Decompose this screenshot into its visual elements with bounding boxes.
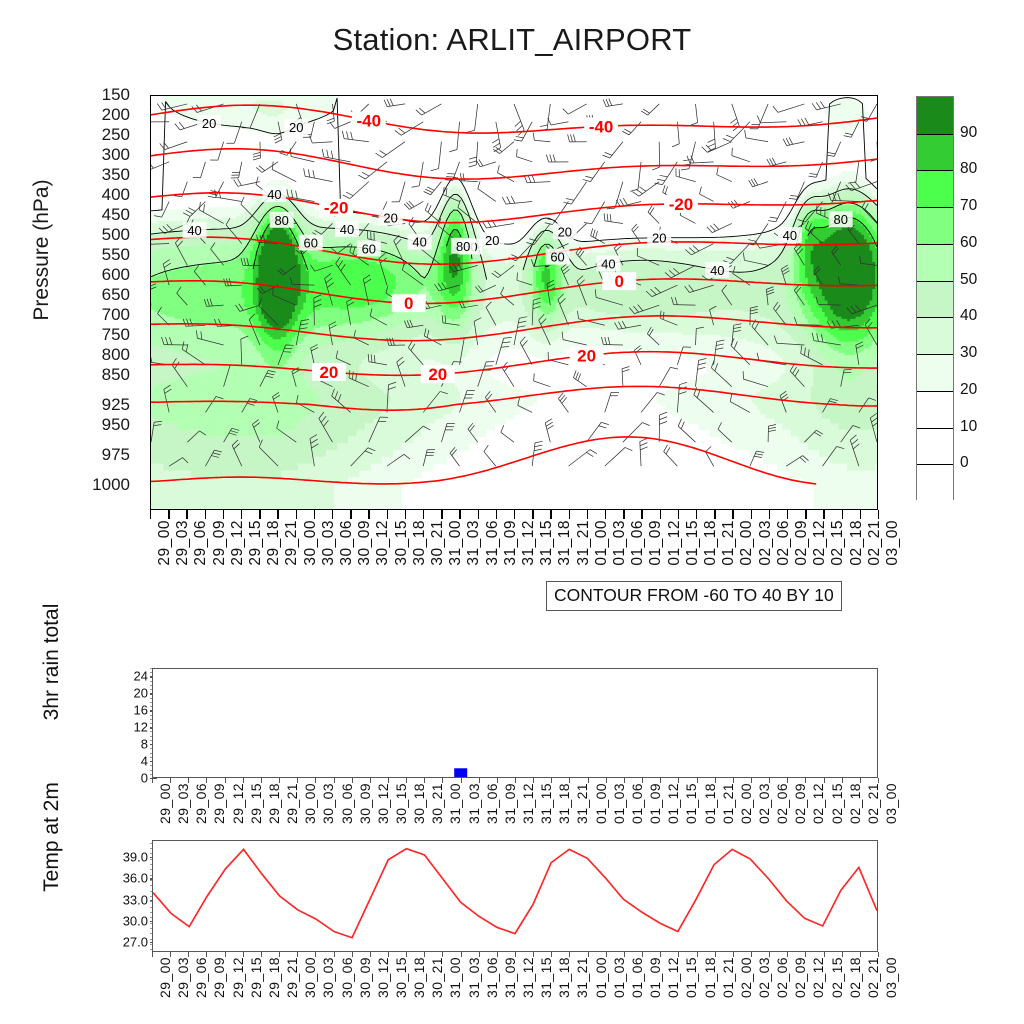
sounding-svg: -40-40-20-200020202020202020202040404040… xyxy=(151,96,877,509)
x-tick xyxy=(805,510,806,519)
time-label: 30_15 xyxy=(393,783,409,824)
x-tick xyxy=(623,510,624,519)
temp-axis-title: Temp at 2m xyxy=(40,737,64,937)
time-label: 02_00 xyxy=(738,783,754,824)
temp-axis-labels: 27.030.033.036.039.0 xyxy=(96,840,148,952)
pressure-label: 850 xyxy=(84,365,130,385)
time-label: 29_21 xyxy=(283,520,301,566)
time-label: 01_15 xyxy=(684,520,702,566)
time-label: 30_06 xyxy=(339,783,355,824)
x-tick xyxy=(168,510,169,519)
time-label: 01_03 xyxy=(611,783,627,824)
colorbar-label: 60 xyxy=(960,234,977,252)
time-label: 01_21 xyxy=(720,957,736,998)
time-label: 30_09 xyxy=(356,520,374,566)
time-label: 02_18 xyxy=(848,520,866,566)
rain-axis-title: 3hr rain total xyxy=(40,562,64,762)
time-label: 30_09 xyxy=(357,783,373,824)
time-label: 29_00 xyxy=(157,957,173,998)
x-tick xyxy=(150,510,151,519)
x-tick xyxy=(368,510,369,519)
time-label: 30_21 xyxy=(429,783,445,824)
time-label: 29_03 xyxy=(175,783,191,824)
x-tick xyxy=(314,510,315,519)
time-label: 31_03 xyxy=(465,520,483,566)
x-tick xyxy=(441,510,442,519)
time-label: 30_03 xyxy=(320,520,338,566)
time-label: 29_09 xyxy=(211,783,227,824)
time-label: 02_00 xyxy=(738,520,756,566)
time-label: 29_18 xyxy=(265,520,283,566)
time-label: 31_06 xyxy=(484,957,500,998)
pressure-label: 300 xyxy=(84,145,130,165)
time-label: 31_18 xyxy=(556,957,572,998)
x-tick xyxy=(532,510,533,519)
time-label: 31_03 xyxy=(466,783,482,824)
pressure-label: 250 xyxy=(84,125,130,145)
x-tick xyxy=(587,510,588,519)
time-label: 29_12 xyxy=(229,520,247,566)
time-label: 31_00 xyxy=(447,520,465,566)
temp-x-labels: 29_0029_0329_0629_0929_1229_1529_1829_21… xyxy=(152,957,878,1015)
x-tick xyxy=(550,510,551,519)
time-label: 31_12 xyxy=(520,783,536,824)
x-tick xyxy=(387,510,388,519)
time-label: 02_09 xyxy=(792,957,808,998)
time-label: 01_18 xyxy=(702,783,718,824)
time-label: 31_06 xyxy=(484,520,502,566)
temp-tick-label: 27.0 xyxy=(96,935,148,950)
rain-tick-label: 12 xyxy=(104,720,148,735)
x-tick xyxy=(641,510,642,519)
pressure-label: 950 xyxy=(84,415,130,435)
time-label: 29_06 xyxy=(193,957,209,998)
temp-tick-label: 33.0 xyxy=(96,892,148,907)
x-tick xyxy=(459,510,460,519)
time-label: 31_18 xyxy=(556,520,574,566)
time-label: 01_09 xyxy=(647,783,663,824)
time-label: 29_00 xyxy=(156,520,174,566)
time-label: 30_03 xyxy=(320,783,336,824)
time-label: 29_21 xyxy=(284,783,300,824)
colorbar-label: 0 xyxy=(960,454,969,472)
pressure-label: 400 xyxy=(84,185,130,205)
time-label: 02_12 xyxy=(810,957,826,998)
time-label: 01_15 xyxy=(683,783,699,824)
colorbar-label: 20 xyxy=(960,381,977,399)
time-label: 02_15 xyxy=(829,957,845,998)
main-x-labels: 29_0029_0329_0629_0929_1229_1529_1829_21… xyxy=(150,520,878,582)
colorbar-label: 80 xyxy=(960,160,977,178)
pressure-label: 975 xyxy=(84,445,130,465)
time-label: 02_21 xyxy=(865,783,881,824)
time-label: 31_03 xyxy=(466,957,482,998)
x-tick xyxy=(714,510,715,519)
x-tick xyxy=(186,510,187,519)
time-label: 02_21 xyxy=(866,520,884,566)
temp-tick-label: 30.0 xyxy=(96,913,148,928)
time-label: 30_00 xyxy=(302,957,318,998)
time-label: 02_03 xyxy=(757,520,775,566)
time-label: 01_06 xyxy=(629,957,645,998)
time-label: 01_00 xyxy=(593,783,609,824)
time-label: 29_15 xyxy=(248,957,264,998)
time-label: 30_09 xyxy=(357,957,373,998)
figure-root: Station: ARLIT_AIRPORT Pressure (hPa) 15… xyxy=(0,0,1024,1024)
time-label: 29_06 xyxy=(193,783,209,824)
pressure-label: 350 xyxy=(84,165,130,185)
rain-tick-label: 0 xyxy=(104,771,148,786)
time-label: 29_09 xyxy=(211,520,229,566)
time-label: 01_03 xyxy=(611,520,629,566)
colorbar-label: 30 xyxy=(960,344,977,362)
time-label: 01_09 xyxy=(647,957,663,998)
x-tick xyxy=(241,510,242,519)
x-tick xyxy=(223,510,224,519)
time-label: 02_15 xyxy=(829,783,845,824)
time-label: 02_06 xyxy=(774,783,790,824)
time-label: 29_12 xyxy=(230,783,246,824)
x-tick xyxy=(878,510,879,519)
time-label: 30_15 xyxy=(393,957,409,998)
rain-tick-label: 16 xyxy=(104,703,148,718)
x-tick xyxy=(205,510,206,519)
x-tick xyxy=(860,510,861,519)
time-label: 30_12 xyxy=(375,957,391,998)
time-label: 29_21 xyxy=(284,957,300,998)
x-tick xyxy=(751,510,752,519)
pressure-label: 550 xyxy=(84,245,130,265)
temp-plot xyxy=(152,840,878,952)
sounding-plot: -40-40-20-200020202020202020202040404040… xyxy=(150,95,878,510)
rain-tick-label: 24 xyxy=(104,669,148,684)
time-label: 01_15 xyxy=(683,957,699,998)
time-label: 30_18 xyxy=(411,783,427,824)
time-label: 29_12 xyxy=(230,957,246,998)
time-label: 31_12 xyxy=(520,957,536,998)
time-label: 01_00 xyxy=(593,957,609,998)
time-label: 31_09 xyxy=(502,957,518,998)
time-label: 31_21 xyxy=(574,957,590,998)
pressure-axis-title: Pressure (hPa) xyxy=(30,100,54,400)
x-tick xyxy=(277,510,278,519)
colorbar-label: 50 xyxy=(960,271,977,289)
time-label: 30_21 xyxy=(429,520,447,566)
rain-tick-label: 8 xyxy=(104,737,148,752)
pressure-label: 600 xyxy=(84,265,130,285)
time-label: 31_21 xyxy=(575,520,593,566)
temp-tick-label: 36.0 xyxy=(96,871,148,886)
time-label: 02_09 xyxy=(792,783,808,824)
time-label: 03_00 xyxy=(883,783,899,824)
time-label: 30_06 xyxy=(338,520,356,566)
x-tick xyxy=(514,510,515,519)
time-label: 02_00 xyxy=(738,957,754,998)
time-label: 29_00 xyxy=(157,783,173,824)
temp-tick-label: 39.0 xyxy=(96,850,148,865)
x-tick xyxy=(569,510,570,519)
time-label: 02_09 xyxy=(793,520,811,566)
time-label: 29_18 xyxy=(266,783,282,824)
x-tick xyxy=(823,510,824,519)
colorbar-label: 10 xyxy=(960,418,977,436)
time-label: 30_06 xyxy=(339,957,355,998)
time-label: 01_12 xyxy=(665,783,681,824)
time-label: 31_06 xyxy=(484,783,500,824)
time-label: 31_09 xyxy=(502,520,520,566)
pressure-label: 450 xyxy=(84,205,130,225)
pressure-label: 750 xyxy=(84,325,130,345)
time-label: 30_15 xyxy=(393,520,411,566)
time-label: 01_21 xyxy=(720,520,738,566)
x-tick xyxy=(696,510,697,519)
time-label: 29_18 xyxy=(266,957,282,998)
time-label: 29_06 xyxy=(192,520,210,566)
pressure-label: 500 xyxy=(84,225,130,245)
rain-svg xyxy=(153,669,877,777)
time-label: 02_06 xyxy=(775,520,793,566)
time-label: 30_18 xyxy=(411,957,427,998)
x-tick xyxy=(496,510,497,519)
time-label: 29_03 xyxy=(174,520,192,566)
rain-x-labels: 29_0029_0329_0629_0929_1229_1529_1829_21… xyxy=(152,783,878,841)
colorbar-label: 40 xyxy=(960,307,977,325)
x-tick xyxy=(405,510,406,519)
time-label: 01_12 xyxy=(666,520,684,566)
time-label: 02_18 xyxy=(847,957,863,998)
time-label: 29_15 xyxy=(248,783,264,824)
time-label: 30_03 xyxy=(320,957,336,998)
time-label: 02_12 xyxy=(811,520,829,566)
x-tick xyxy=(732,510,733,519)
x-tick xyxy=(769,510,770,519)
time-label: 02_15 xyxy=(829,520,847,566)
x-tick xyxy=(296,510,297,519)
x-tick xyxy=(660,510,661,519)
time-label: 02_03 xyxy=(756,957,772,998)
temp-svg xyxy=(153,841,877,951)
pressure-label: 650 xyxy=(84,285,130,305)
time-label: 31_12 xyxy=(520,520,538,566)
time-label: 30_12 xyxy=(374,520,392,566)
time-label: 29_03 xyxy=(175,957,191,998)
pressure-label: 150 xyxy=(84,85,130,105)
time-label: 30_18 xyxy=(411,520,429,566)
time-label: 29_15 xyxy=(247,520,265,566)
colorbar-label: 70 xyxy=(960,197,977,215)
time-label: 31_15 xyxy=(538,957,554,998)
x-tick xyxy=(350,510,351,519)
x-tick xyxy=(259,510,260,519)
x-tick xyxy=(842,510,843,519)
x-tick xyxy=(678,510,679,519)
rain-tick-label: 4 xyxy=(104,754,148,769)
pressure-label: 1000 xyxy=(84,475,130,495)
x-tick xyxy=(605,510,606,519)
time-label: 31_15 xyxy=(538,783,554,824)
x-tick xyxy=(332,510,333,519)
pressure-label: 800 xyxy=(84,345,130,365)
pressure-label: 925 xyxy=(84,395,130,415)
time-label: 02_06 xyxy=(774,957,790,998)
rain-tick-label: 20 xyxy=(104,686,148,701)
time-label: 31_00 xyxy=(447,957,463,998)
time-label: 30_00 xyxy=(302,783,318,824)
pressure-label: 700 xyxy=(84,305,130,325)
time-label: 02_12 xyxy=(810,783,826,824)
colorbar-label: 90 xyxy=(960,124,977,142)
time-label: 02_03 xyxy=(756,783,772,824)
rain-axis-labels: 04812162024 xyxy=(104,668,148,778)
time-label: 29_09 xyxy=(211,957,227,998)
time-label: 30_12 xyxy=(375,783,391,824)
time-label: 02_21 xyxy=(865,957,881,998)
time-label: 01_21 xyxy=(720,783,736,824)
page-title: Station: ARLIT_AIRPORT xyxy=(0,22,1024,58)
pressure-axis-labels: 1502002503003504004505005506006507007508… xyxy=(84,95,130,510)
contour-note: CONTOUR FROM -60 TO 40 BY 10 xyxy=(546,581,842,611)
rain-plot xyxy=(152,668,878,778)
time-label: 31_15 xyxy=(538,520,556,566)
time-label: 01_03 xyxy=(611,957,627,998)
time-label: 02_18 xyxy=(847,783,863,824)
time-label: 31_18 xyxy=(556,783,572,824)
x-tick xyxy=(478,510,479,519)
time-label: 01_06 xyxy=(629,783,645,824)
pressure-label: 200 xyxy=(84,105,130,125)
time-label: 03_00 xyxy=(883,957,899,998)
time-label: 31_00 xyxy=(447,783,463,824)
time-label: 01_18 xyxy=(702,957,718,998)
time-label: 01_12 xyxy=(665,957,681,998)
time-label: 31_09 xyxy=(502,783,518,824)
colorbar-labels: 9080706050403020100 xyxy=(916,96,1016,500)
time-label: 01_09 xyxy=(647,520,665,566)
time-label: 01_06 xyxy=(629,520,647,566)
time-label: 30_00 xyxy=(302,520,320,566)
time-label: 31_21 xyxy=(574,783,590,824)
time-label: 30_21 xyxy=(429,957,445,998)
x-tick xyxy=(423,510,424,519)
time-label: 01_00 xyxy=(593,520,611,566)
time-label: 01_18 xyxy=(702,520,720,566)
main-x-ticks xyxy=(150,510,878,520)
time-label: 03_00 xyxy=(884,520,902,566)
x-tick xyxy=(787,510,788,519)
